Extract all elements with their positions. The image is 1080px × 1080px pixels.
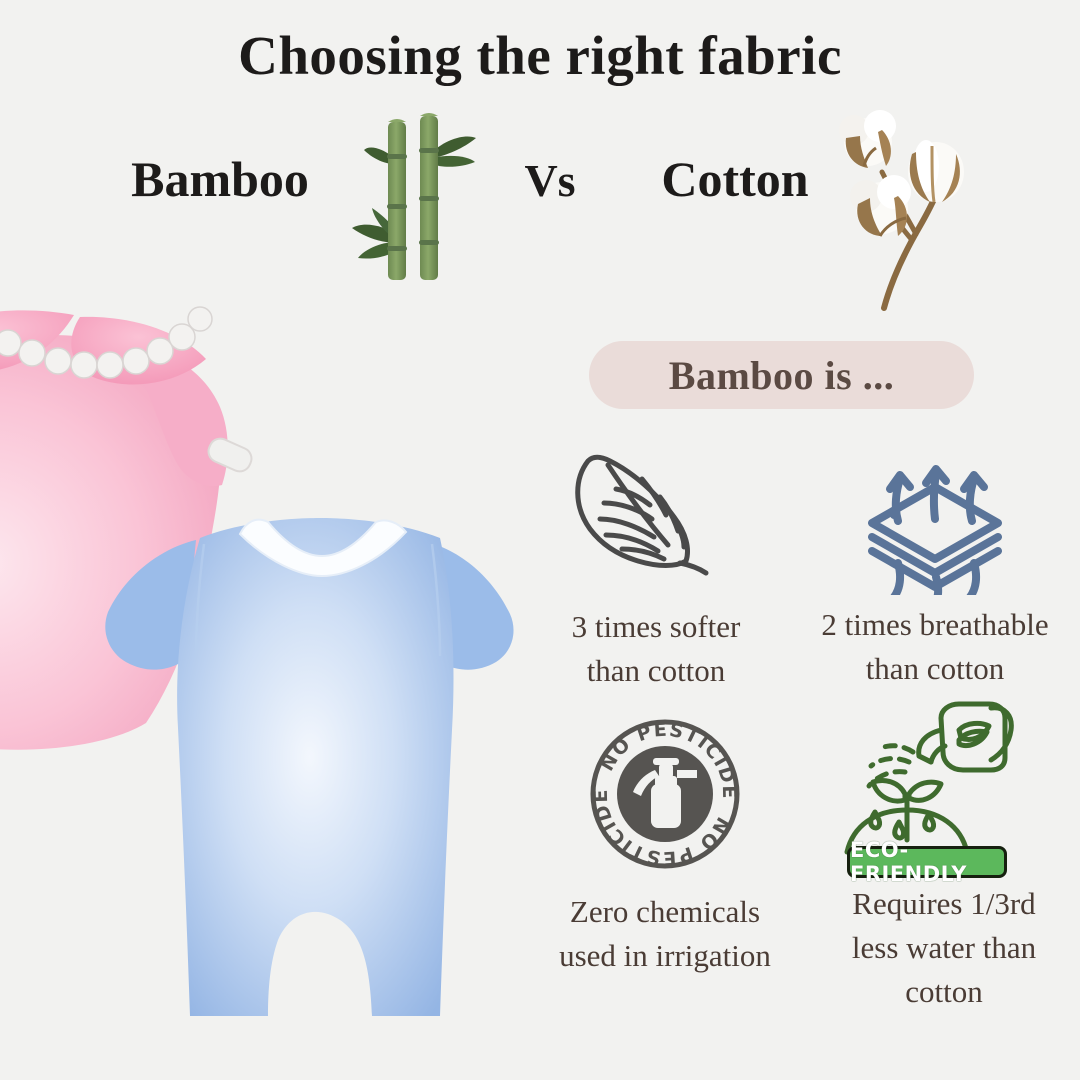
label-bamboo: Bamboo	[100, 150, 340, 208]
bamboo-is-pill: Bamboo is ...	[589, 341, 974, 409]
benefit-breathable-text: 2 times breathable than cotton	[790, 603, 1080, 691]
benefit-breathable-line-1: 2 times breathable	[790, 603, 1080, 647]
bamboo-is-pill-label: Bamboo is ...	[669, 352, 894, 399]
benefit-no-chemicals-line-2: used in irrigation	[520, 934, 810, 978]
page-title: Choosing the right fabric	[0, 24, 1080, 87]
benefit-no-chemicals: NO PESTICIDES NO PESTICIDES Zero chemica…	[520, 712, 810, 978]
no-pesticides-icon: NO PESTICIDES NO PESTICIDES	[583, 712, 748, 872]
benefit-softer-line-2: than cotton	[522, 649, 790, 693]
benefit-breathable-line-2: than cotton	[790, 647, 1080, 691]
benefit-softer-line-1: 3 times softer	[522, 605, 790, 649]
benefit-less-water-text: Requires 1/3rd less water than cotton	[808, 882, 1080, 1014]
cotton-branch-icon	[820, 100, 1020, 315]
benefit-softer: 3 times softer than cotton	[522, 445, 790, 693]
eco-friendly-badge: ECO-FRIENDLY	[847, 846, 1007, 878]
benefit-no-chemicals-line-1: Zero chemicals	[520, 890, 810, 934]
benefit-less-water-line-1: Requires 1/3rd	[808, 882, 1080, 926]
label-cotton: Cotton	[625, 150, 845, 208]
bamboo-stalks-icon	[340, 108, 500, 288]
eco-friendly-badge-label: ECO-FRIENDLY	[850, 838, 1004, 886]
feather-icon	[566, 445, 746, 595]
breathable-layers-icon	[850, 445, 1020, 595]
infographic-canvas: Choosing the right fabric Bamboo Vs Cott…	[0, 0, 1080, 1080]
blue-baby-romper-icon	[100, 500, 540, 1060]
benefit-breathable: 2 times breathable than cotton	[790, 445, 1080, 691]
label-versus: Vs	[505, 154, 595, 207]
benefit-less-water-line-2: less water than	[808, 926, 1080, 970]
benefit-less-water-line-3: cotton	[808, 970, 1080, 1014]
benefit-no-chemicals-text: Zero chemicals used in irrigation	[520, 890, 810, 978]
benefit-softer-text: 3 times softer than cotton	[522, 605, 790, 693]
